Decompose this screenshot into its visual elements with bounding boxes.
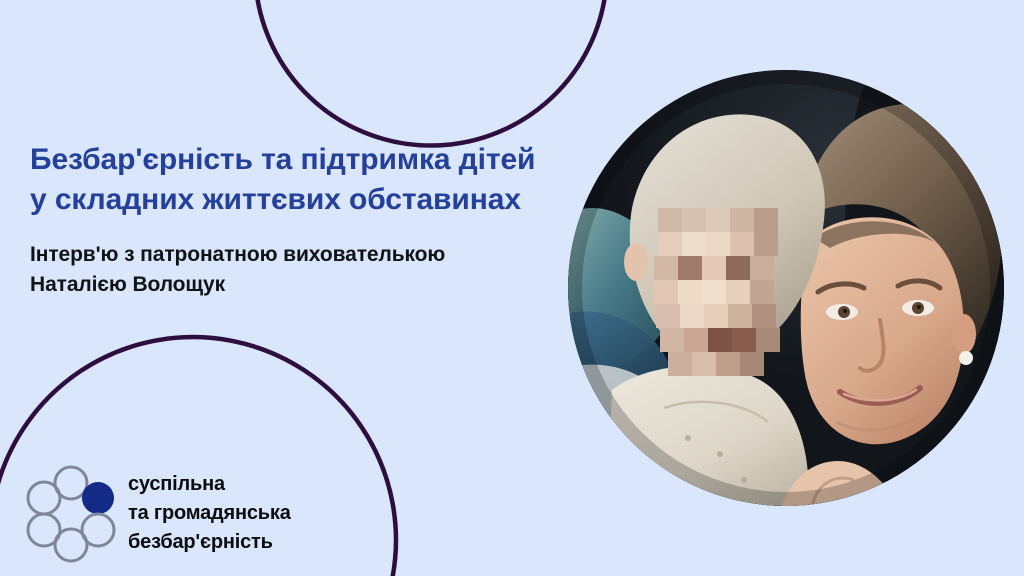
organization-logo: суспільна та громадянська безбар'єрність	[22, 462, 342, 570]
slide-text-block: Безбар'єрність та підтримка дітей у скла…	[30, 140, 575, 301]
six-circle-hexagon-mark-icon	[22, 462, 126, 566]
presentation-slide: Безбар'єрність та підтримка дітей у скла…	[0, 0, 1024, 576]
top-arc-icon	[257, 0, 605, 146]
privacy-pixelation	[654, 208, 780, 376]
page-title-line-2: у складних життєвих обставинах	[30, 180, 575, 220]
page-subtitle-line-1: Інтерв'ю з патронатною вихователькою	[30, 243, 445, 266]
portrait-photo	[568, 70, 1004, 506]
portrait-photo-image	[568, 70, 1004, 506]
logo-text-line-1: суспільна	[128, 470, 291, 499]
logo-text-line-3: безбар'єрність	[128, 528, 291, 557]
logo-text-line-2: та громадянська	[128, 499, 291, 528]
page-subtitle: Інтерв'ю з патронатною вихователькою Нат…	[30, 220, 575, 301]
page-title-line-1: Безбар'єрність та підтримка дітей	[30, 143, 535, 176]
page-title: Безбар'єрність та підтримка дітей у скла…	[30, 140, 575, 220]
page-subtitle-line-2: Наталією Волощук	[30, 270, 575, 300]
organization-logo-text: суспільна та громадянська безбар'єрність	[128, 470, 291, 557]
